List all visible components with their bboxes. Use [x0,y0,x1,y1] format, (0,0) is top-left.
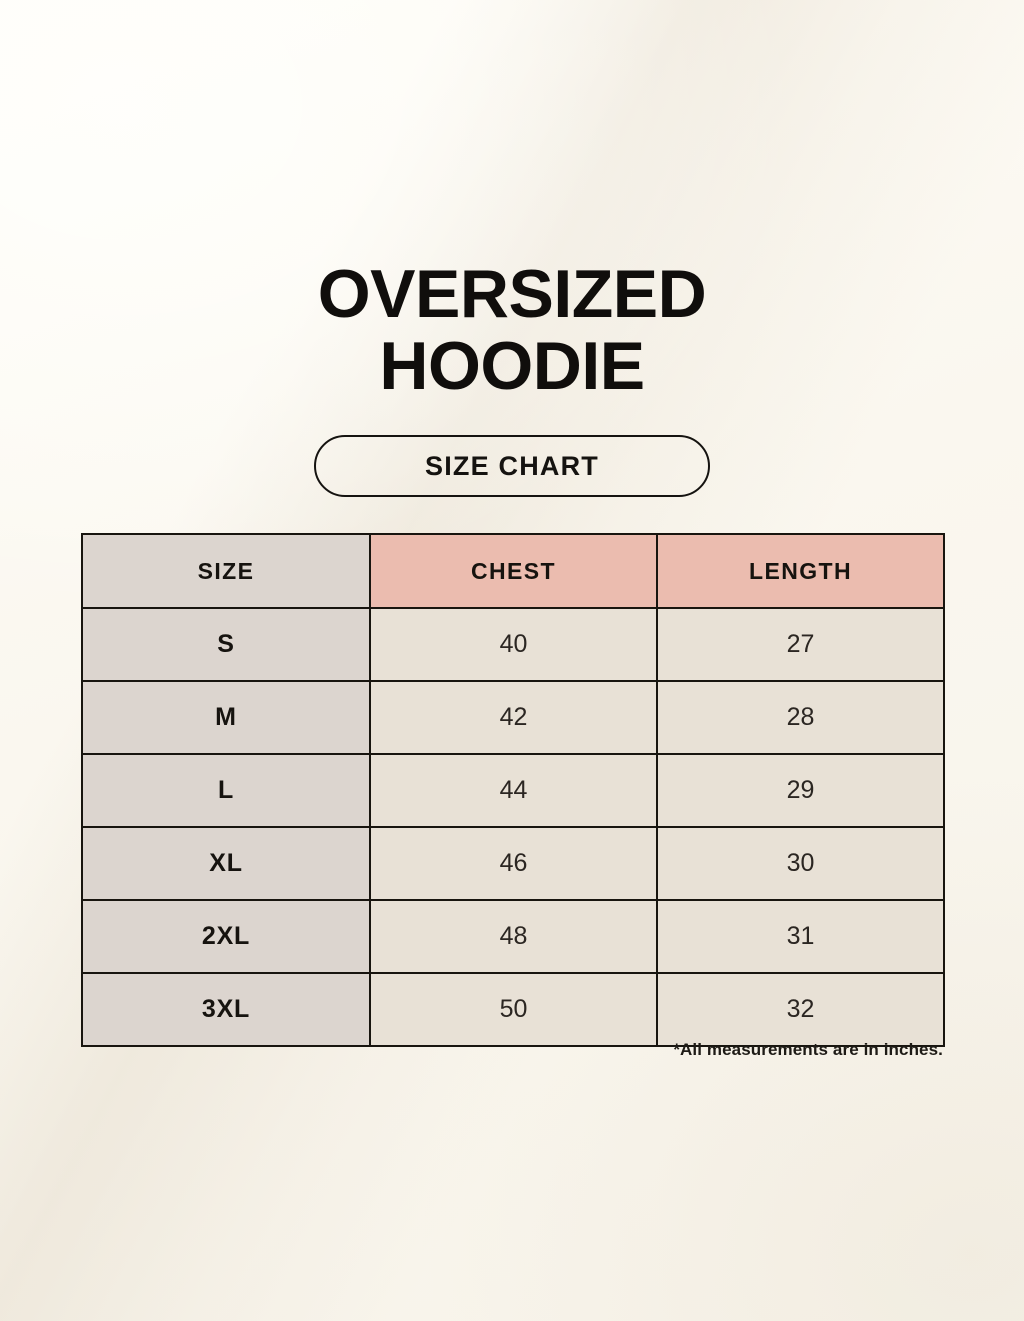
column-header-length: LENGTH [657,534,944,608]
table-row: 3XL 50 32 [82,973,944,1046]
table-row: M 42 28 [82,681,944,754]
size-chart-badge-label: SIZE CHART [425,451,599,482]
cell-length: 30 [657,827,944,900]
cell-size: 3XL [82,973,370,1046]
cell-chest: 44 [370,754,657,827]
cell-length: 31 [657,900,944,973]
cell-size: L [82,754,370,827]
cell-chest: 42 [370,681,657,754]
page-title-line-2: HOODIE [0,330,1024,402]
size-table-body: S 40 27 M 42 28 L 44 29 XL 46 30 [82,608,944,1046]
cell-chest: 46 [370,827,657,900]
size-chart-badge-container: SIZE CHART [0,435,1024,497]
cell-size: XL [82,827,370,900]
cell-length: 32 [657,973,944,1046]
column-header-chest: CHEST [370,534,657,608]
cell-chest: 50 [370,973,657,1046]
size-table: SIZE CHEST LENGTH S 40 27 M 42 28 L [81,533,945,1047]
measurements-footnote: *All measurements are in inches. [81,1040,943,1060]
size-table-container: SIZE CHEST LENGTH S 40 27 M 42 28 L [81,533,943,1047]
size-chart-page: OVERSIZED HOODIE SIZE CHART SIZE CHEST L… [0,0,1024,1321]
table-row: XL 46 30 [82,827,944,900]
page-title-line-1: OVERSIZED [0,258,1024,330]
cell-size: M [82,681,370,754]
table-row: 2XL 48 31 [82,900,944,973]
cell-length: 28 [657,681,944,754]
cell-chest: 48 [370,900,657,973]
cell-length: 29 [657,754,944,827]
cell-chest: 40 [370,608,657,681]
size-chart-badge: SIZE CHART [314,435,710,497]
table-row: L 44 29 [82,754,944,827]
size-table-head: SIZE CHEST LENGTH [82,534,944,608]
cell-size: 2XL [82,900,370,973]
table-header-row: SIZE CHEST LENGTH [82,534,944,608]
cell-length: 27 [657,608,944,681]
page-title: OVERSIZED HOODIE [0,258,1024,402]
table-row: S 40 27 [82,608,944,681]
cell-size: S [82,608,370,681]
column-header-size: SIZE [82,534,370,608]
